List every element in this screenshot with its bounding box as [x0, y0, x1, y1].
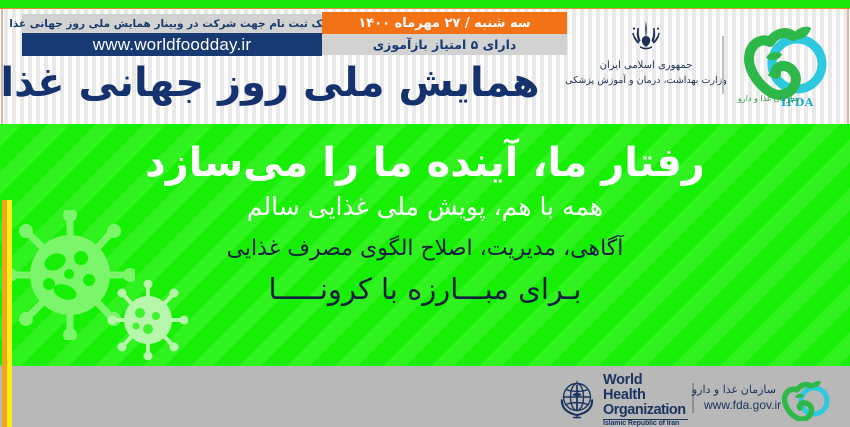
slogan-fourth: بـرای مبـــارزه با کرونـــــا [0, 272, 850, 307]
who-line-2: Organization [603, 403, 688, 418]
left-accent-strip [2, 200, 12, 427]
registration-label: لینک ثبت نام جهت شرکت در وبینار همایش مل… [22, 14, 322, 33]
ifda-apple-leaf-icon [735, 24, 835, 102]
ministry-name: جمهوری اسلامی ایران وزارت بهداشت، درمان … [565, 58, 727, 88]
page-edge-line-right [847, 9, 849, 124]
who-line-1: World Health [603, 373, 688, 403]
header-divider [722, 36, 724, 94]
who-line-3: Islamic Republic of Iran [603, 419, 688, 427]
who-logo-block: World Health Organization Islamic Republ… [556, 379, 688, 421]
slogan-primary: رفتار ما، آینده ما را می‌سازد [0, 140, 850, 186]
ministry-logo-block: جمهوری اسلامی ایران وزارت بهداشت، درمان … [576, 18, 716, 118]
iran-emblem-icon [626, 18, 666, 56]
congress-title: همایش ملی روز جهانی غذا [8, 52, 532, 114]
slogan-group: رفتار ما، آینده ما را می‌سازد همه با هم،… [0, 128, 850, 366]
ifda-logo-header: IFDA سازمان غذا و دارو [735, 24, 835, 116]
top-green-strip [0, 0, 850, 8]
event-date: سه شنبه / ۲۷ مهرماه ۱۴۰۰ [322, 12, 567, 34]
who-emblem-icon [556, 377, 598, 423]
ifda-logo-footer [778, 381, 836, 421]
ministry-line-1: جمهوری اسلامی ایران [565, 58, 727, 74]
slogan-third: آگاهی، مدیریت، اصلاح الگوی مصرف غذایی [0, 236, 850, 262]
registration-link-block[interactable]: لینک ثبت نام جهت شرکت در وبینار همایش مل… [22, 14, 322, 56]
event-date-block: سه شنبه / ۲۷ مهرماه ۱۴۰۰ دارای ۵ امتیاز … [322, 12, 567, 56]
slogan-secondary: همه با هم، پویش ملی غذایی سالم [0, 192, 850, 222]
who-name: World Health Organization Islamic Republ… [603, 373, 688, 427]
page-edge-line-left [1, 9, 3, 124]
world-food-day-banner: لینک ثبت نام جهت شرکت در وبینار همایش مل… [0, 0, 850, 427]
fda-persian-name: سازمان غذا و دارو [704, 383, 776, 396]
fda-text-block: سازمان غذا و دارو www.fda.gov.ir [704, 383, 776, 412]
top-orange-divider [0, 8, 850, 9]
fda-url[interactable]: www.fda.gov.ir [704, 398, 776, 412]
ifda-persian-text: سازمان غذا و دارو [738, 94, 799, 103]
ministry-line-2: وزارت بهداشت، درمان و آموزش پزشکی [565, 74, 727, 89]
